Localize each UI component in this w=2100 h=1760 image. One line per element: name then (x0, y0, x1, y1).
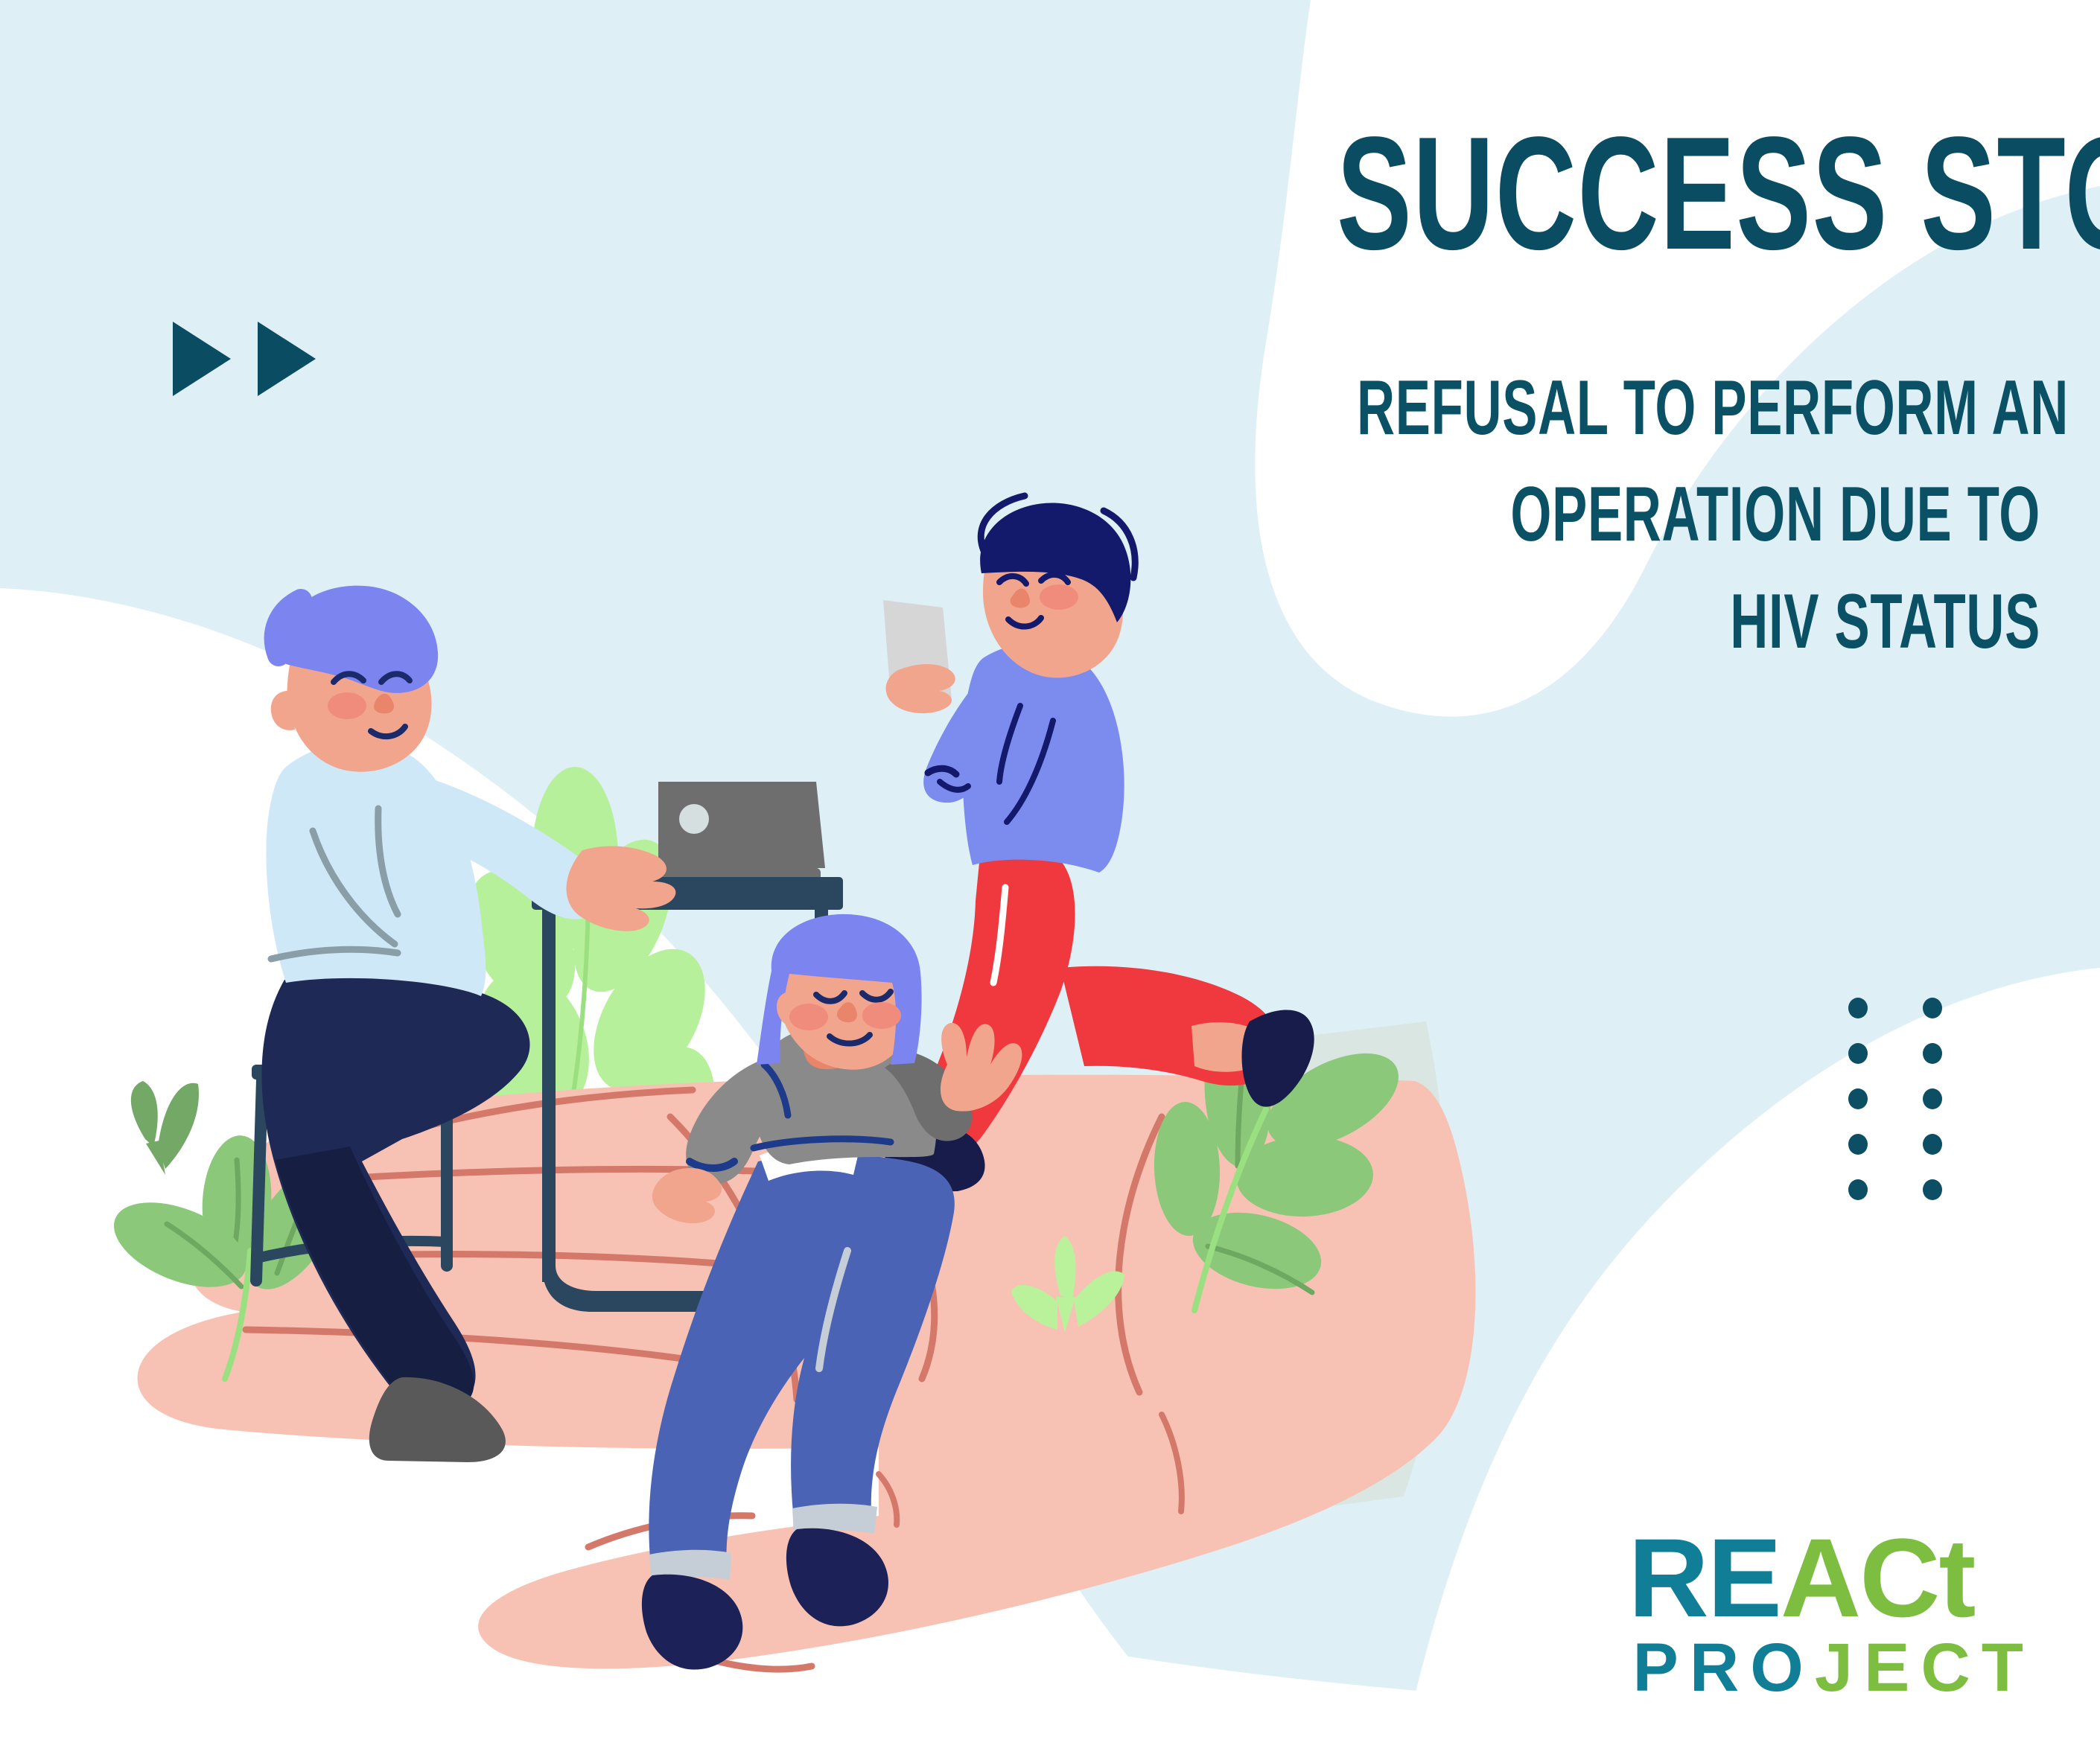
dot (1923, 1179, 1942, 1200)
dot (1848, 1179, 1868, 1200)
subtitle-line-1: REFUSAL TO PERFORM AN (1357, 355, 2040, 462)
blush-2 (862, 1002, 901, 1029)
dot-grid-decoration (1848, 998, 1997, 1225)
dot (1923, 998, 1942, 1018)
plant-left-small (131, 1081, 199, 1175)
dot (1848, 1134, 1868, 1155)
hand (886, 664, 955, 713)
subtitle-line-2: OPERATION DUE TO (1357, 462, 2040, 569)
react-project-logo: REACt PROJECT (1628, 1525, 2034, 1703)
laptop-camera-dot (679, 804, 709, 834)
shirt (266, 742, 486, 996)
poster-canvas: SUCCESS STORY REFUSAL TO PERFORM AN OPER… (0, 0, 2100, 1760)
dot (1848, 998, 1868, 1018)
logo-line-2: PROJECT (1628, 1633, 2034, 1703)
logo-pro-text: PRO (1632, 1630, 1814, 1706)
dot (1848, 1088, 1868, 1109)
play-arrow-1-icon (173, 322, 231, 396)
dot (1923, 1088, 1942, 1109)
subtitle-line-3: HIV STATUS (1357, 569, 2040, 676)
blush-1 (328, 692, 366, 719)
subtitle-block: REFUSAL TO PERFORM AN OPERATION DUE TO H… (1357, 355, 2040, 676)
blush-1 (789, 1004, 828, 1030)
logo-re-text: RE (1628, 1515, 1780, 1640)
logo-ject-text: JECT (1815, 1630, 2034, 1706)
play-arrow-2-icon (258, 322, 316, 396)
logo-act-text: ACt (1781, 1515, 1975, 1640)
desk-leg-left (542, 910, 556, 1282)
text-column: SUCCESS STORY REFUSAL TO PERFORM AN OPER… (1035, 119, 2040, 675)
ear (271, 691, 295, 730)
dot (1923, 1043, 1942, 1064)
dot (1848, 1043, 1868, 1064)
play-arrows (173, 322, 316, 396)
page-title: SUCCESS STORY (1337, 119, 2040, 267)
logo-line-1: REACt (1628, 1525, 2034, 1630)
dot (1923, 1134, 1942, 1155)
